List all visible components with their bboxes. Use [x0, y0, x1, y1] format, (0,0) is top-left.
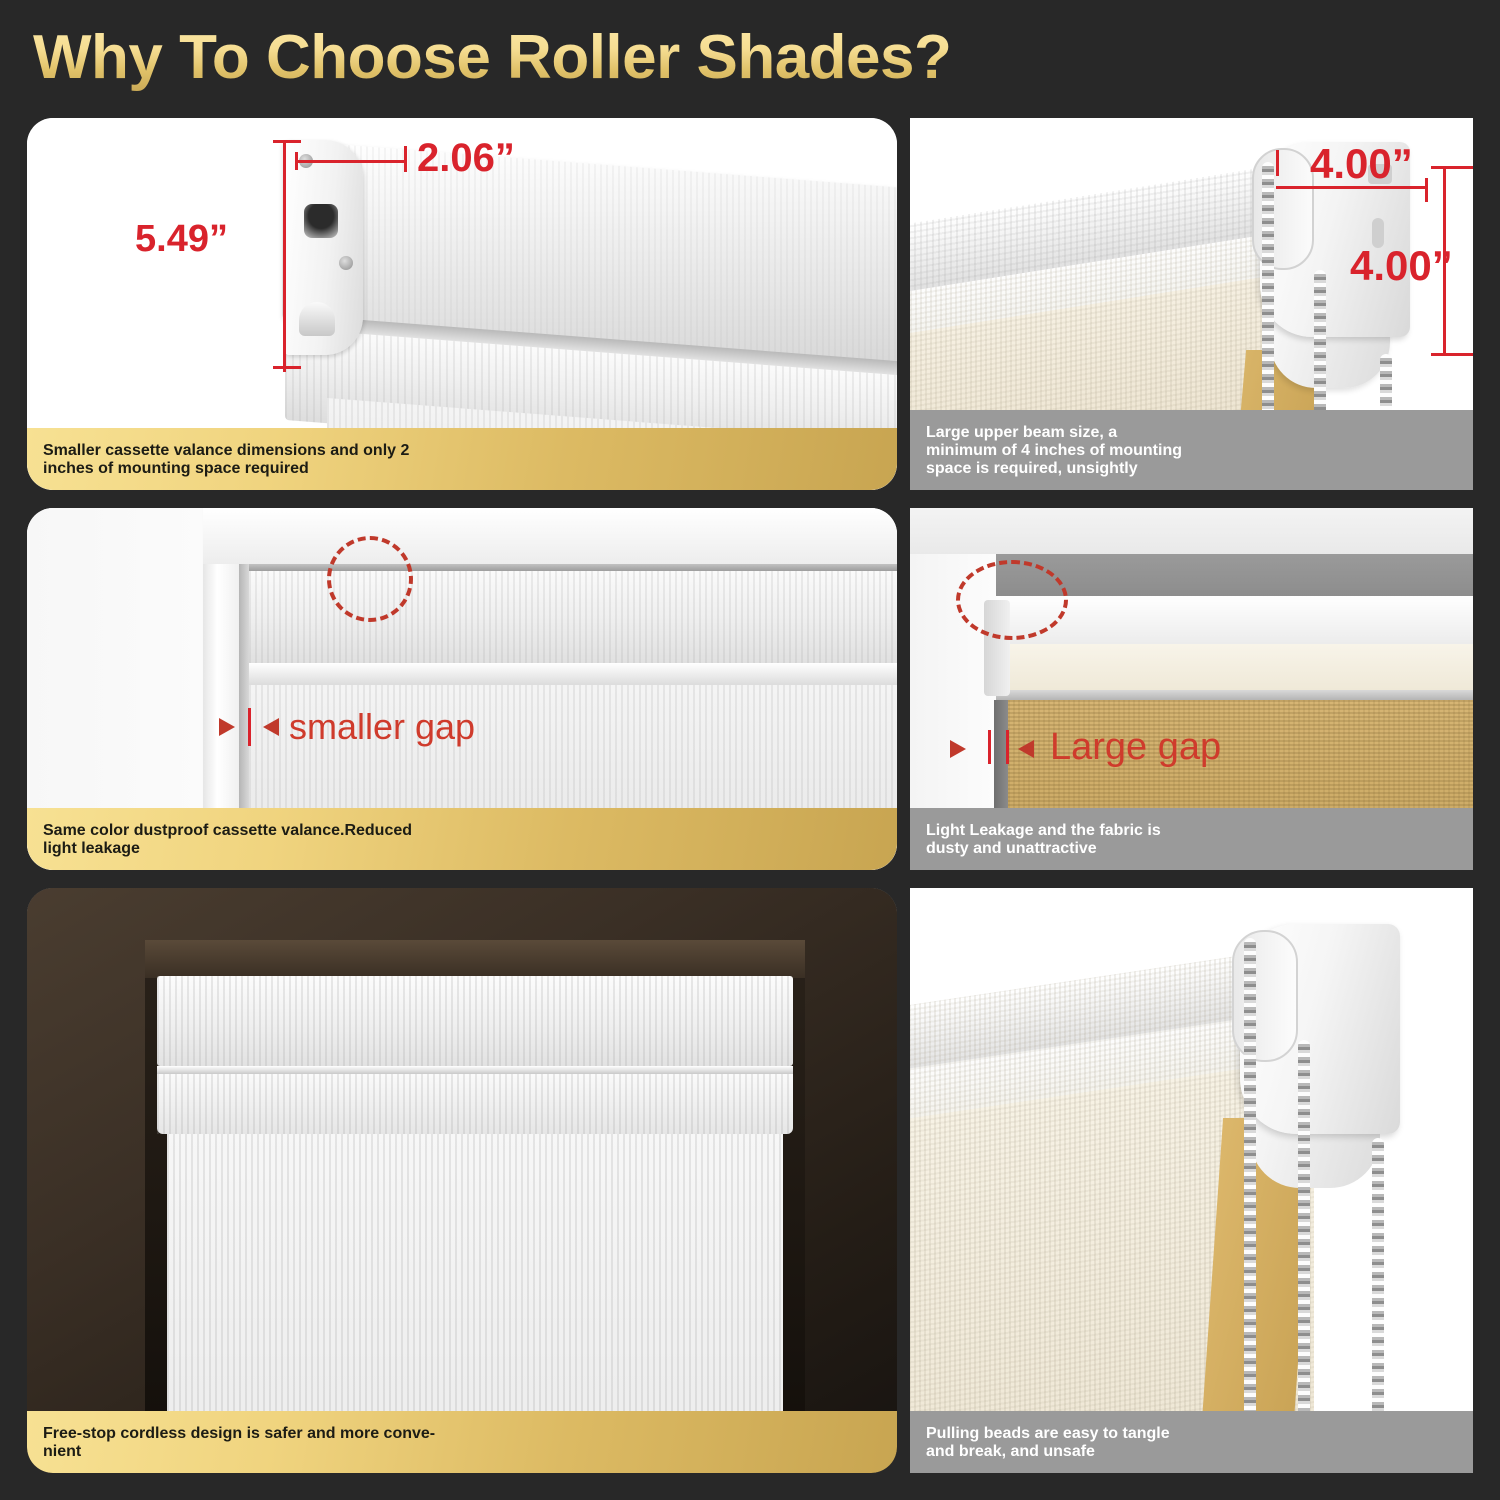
panel-4-caption: Light Leakage and the fabric is dusty an… — [910, 808, 1473, 870]
highlight-dashed-ellipse — [956, 560, 1068, 640]
height-dimension-label: 5.49” — [135, 218, 228, 261]
panel-smaller-gap: smaller gap Same color dustproof cassett… — [27, 508, 897, 870]
ceiling-band — [910, 508, 1473, 554]
caption-line: Smaller cassette valance dimensions and … — [43, 442, 881, 460]
roller-bar — [996, 690, 1473, 700]
beam-width-tick-right — [1425, 178, 1428, 202]
valance-lower-lip — [249, 663, 897, 685]
panel-5-image — [27, 888, 897, 1473]
caption-line: inches of mounting space required — [43, 460, 881, 478]
panel-1-caption: Smaller cassette valance dimensions and … — [27, 428, 897, 490]
panel-smaller-cassette: 2.06” 5.49” Smaller cassette valance dim… — [27, 118, 897, 490]
gap-marker-line-1 — [988, 730, 991, 764]
caption-line: space is required, unsightly — [926, 460, 1457, 478]
beam-width-tick-left — [1276, 150, 1279, 176]
caption-line: Light Leakage and the fabric is — [926, 822, 1457, 840]
panel-pulling-beads: Pulling beads are easy to tangle and bre… — [910, 888, 1473, 1473]
panel-large-gap: Large gap Light Leakage and the fabric i… — [910, 508, 1473, 870]
height-dim-tick-bottom — [273, 366, 301, 369]
gap-marker-line-2 — [1006, 730, 1009, 764]
beam-height-tick-bottom — [1431, 353, 1473, 356]
panel-6-image — [910, 888, 1473, 1473]
window-lintel — [145, 940, 805, 978]
caption-line: Same color dustproof cassette valance.Re… — [43, 822, 881, 840]
window-head-trim — [203, 508, 897, 564]
caption-line: nient — [43, 1443, 881, 1461]
panel-3-caption: Same color dustproof cassette valance.Re… — [27, 808, 897, 870]
gap-arrow-right — [263, 718, 279, 736]
width-dim-line — [295, 160, 407, 163]
panel-cordless-design: Free-stop cordless design is safer and m… — [27, 888, 897, 1473]
panel-large-beam: 4.00” 4.00” Large upper beam size, a min… — [910, 118, 1473, 490]
cream-band — [996, 644, 1473, 690]
caption-line: Free-stop cordless design is safer and m… — [43, 1425, 881, 1443]
panel-5-caption: Free-stop cordless design is safer and m… — [27, 1411, 897, 1473]
roller-end-disc — [1232, 930, 1298, 1062]
gap-arrow-left — [950, 740, 966, 758]
shadow-band — [996, 554, 1473, 596]
large-gap-label: Large gap — [1050, 726, 1221, 769]
caption-line: Pulling beads are easy to tangle — [926, 1425, 1457, 1443]
width-dimension-label: 2.06” — [417, 136, 515, 181]
highlight-dashed-circle — [327, 536, 413, 622]
caption-line: minimum of 4 inches of mounting — [926, 442, 1457, 460]
height-dim-line — [283, 140, 286, 372]
width-dim-tick-left — [295, 152, 298, 170]
smaller-gap-label: smaller gap — [289, 706, 475, 748]
bead-chain-middle — [1298, 1040, 1310, 1460]
page-title: Why To Choose Roller Shades? — [33, 22, 951, 93]
valance-lip — [157, 1066, 793, 1074]
bead-chain-front — [1244, 938, 1256, 1458]
gap-marker-line — [248, 708, 251, 746]
height-dim-tick-top — [273, 140, 301, 143]
width-dim-tick-right — [404, 146, 407, 172]
caption-line: dusty and unattractive — [926, 840, 1457, 858]
bracket-screw-bottom — [339, 256, 353, 270]
panel-6-caption: Pulling beads are easy to tangle and bre… — [910, 1411, 1473, 1473]
cassette-valance — [157, 976, 793, 1066]
caption-line: and break, and unsafe — [926, 1443, 1457, 1461]
beam-height-label: 4.00” — [1350, 242, 1453, 290]
roller-front — [157, 1074, 793, 1134]
gap-arrow-left — [219, 718, 235, 736]
caption-line: Large upper beam size, a — [926, 424, 1457, 442]
beam-width-label: 4.00” — [1310, 140, 1413, 188]
panel-2-caption: Large upper beam size, a minimum of 4 in… — [910, 410, 1473, 490]
gap-arrow-right — [1018, 740, 1034, 758]
beam-height-tick-top — [1431, 166, 1473, 169]
bracket-pin-hole — [304, 204, 338, 238]
bracket-clip — [299, 302, 335, 336]
caption-line: light leakage — [43, 840, 881, 858]
infographic-root: Why To Choose Roller Shades? 2.06” 5.49” — [0, 0, 1500, 1500]
